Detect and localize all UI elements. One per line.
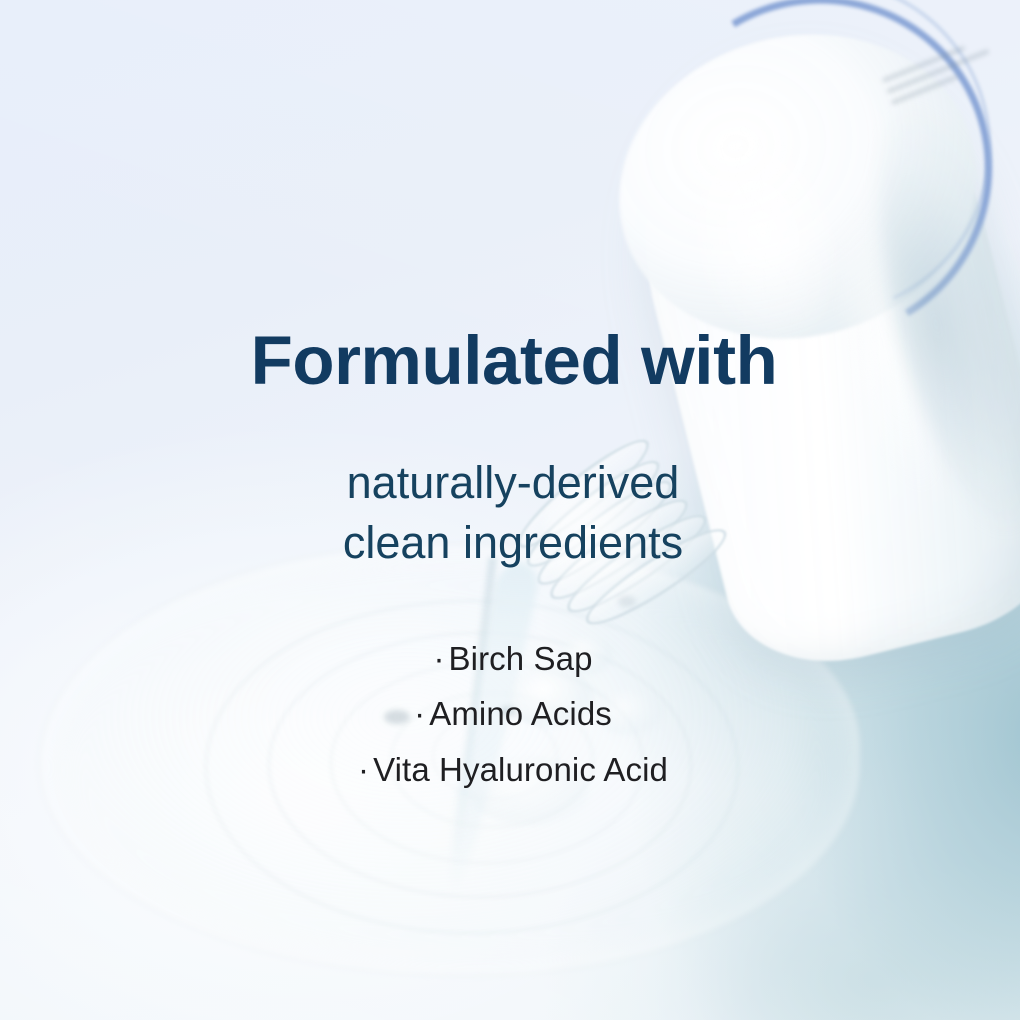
subheadline-line-1: naturally-derived	[6, 453, 1020, 513]
ingredient-label: Birch Sap	[449, 640, 593, 677]
bullet-icon: ·	[433, 640, 444, 677]
copy-block: Formulated with naturally-derived clean …	[0, 326, 1020, 797]
ingredient-label: Amino Acids	[429, 695, 612, 732]
list-item: ·Vita Hyaluronic Acid	[6, 742, 1020, 797]
bullet-icon: ·	[414, 695, 425, 732]
ingredient-label: Vita Hyaluronic Acid	[373, 751, 668, 788]
subheadline-line-2: clean ingredients	[6, 513, 1020, 573]
promo-image: Formulated with naturally-derived clean …	[0, 0, 1020, 1020]
headline: Formulated with	[0, 326, 1020, 395]
list-item: ·Birch Sap	[6, 631, 1020, 686]
ingredient-list: ·Birch Sap ·Amino Acids ·Vita Hyaluronic…	[0, 631, 1020, 797]
list-item: ·Amino Acids	[6, 686, 1020, 741]
subheadline: naturally-derived clean ingredients	[0, 453, 1020, 573]
bullet-icon: ·	[358, 751, 369, 788]
